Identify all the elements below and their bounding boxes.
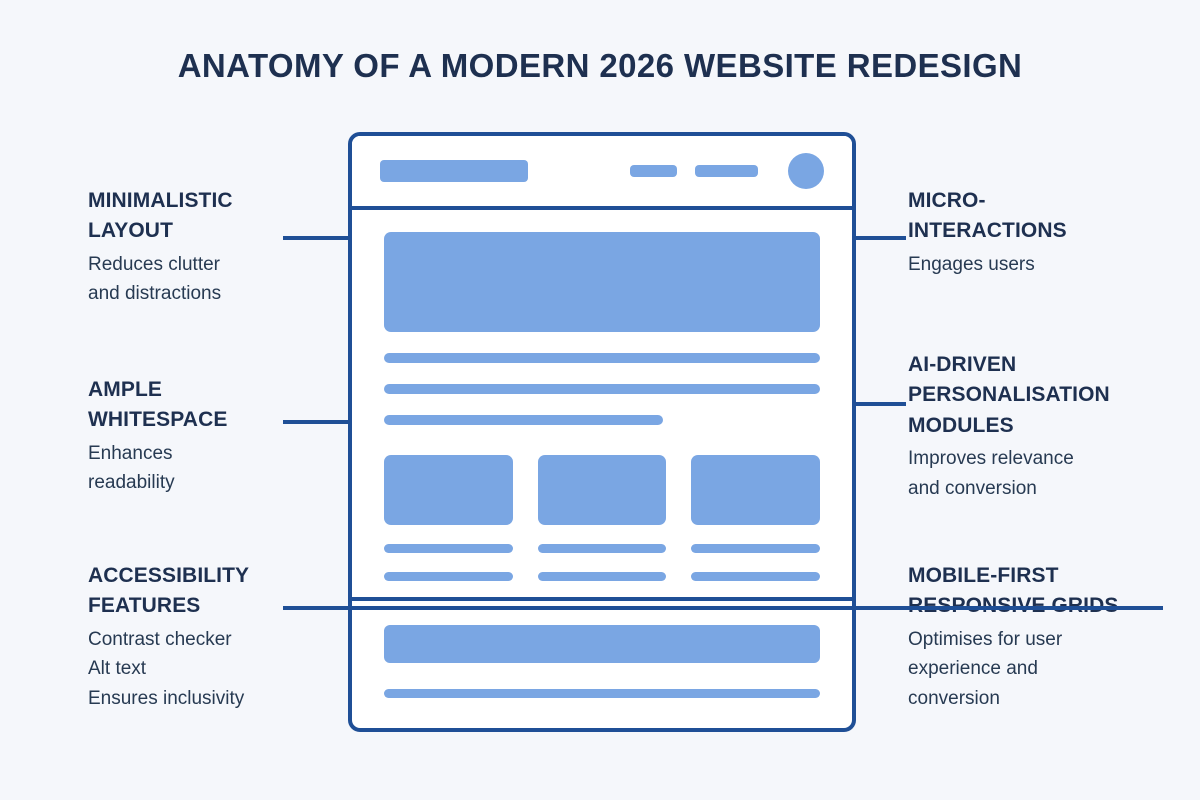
callout-heading: MINIMALISTIC LAYOUT <box>88 186 378 247</box>
callout-heading: ACCESSIBILITY FEATURES <box>88 561 378 622</box>
card-text-line-2 <box>538 572 667 581</box>
callout-minimalistic-layout: MINIMALISTIC LAYOUT Reduces clutter and … <box>88 186 378 309</box>
card-image-placeholder <box>691 455 820 525</box>
card-item[interactable] <box>384 455 513 581</box>
card-text-line-2 <box>384 572 513 581</box>
callout-body: Improves relevance and conversion <box>908 444 1200 503</box>
card-image-placeholder <box>538 455 667 525</box>
callout-heading: AI-DRIVEN PERSONALISATION MODULES <box>908 350 1200 441</box>
callout-body: Optimises for user experience and conver… <box>908 625 1200 713</box>
callout-micro-interactions: MICRO- INTERACTIONS Engages users <box>908 186 1200 279</box>
card-image-placeholder <box>384 455 513 525</box>
callout-body: Reduces clutter and distractions <box>88 250 378 309</box>
card-item[interactable] <box>538 455 667 581</box>
callout-ai-personalisation-modules: AI-DRIVEN PERSONALISATION MODULES Improv… <box>908 350 1200 503</box>
page-title: ANATOMY OF A MODERN 2026 WEBSITE REDESIG… <box>0 48 1200 84</box>
connector-line-accessibility-mobile-first <box>283 606 1163 610</box>
footer-text-line <box>384 689 820 698</box>
callout-mobile-first-responsive-grids: MOBILE-FIRST RESPONSIVE GRIDS Optimises … <box>908 561 1200 713</box>
avatar-icon[interactable] <box>788 153 824 189</box>
mockup-footer-area <box>352 597 852 698</box>
card-grid <box>384 455 820 581</box>
callout-heading: AMPLE WHITESPACE <box>88 375 378 436</box>
callout-body-ample: Enhances readability <box>88 439 378 498</box>
footer-block-placeholder <box>384 625 820 663</box>
card-text-line-1 <box>384 544 513 553</box>
callout-accessibility-features: ACCESSIBILITY FEATURES Contrast checker … <box>88 561 378 713</box>
mockup-content-area <box>352 210 852 581</box>
card-item[interactable] <box>691 455 820 581</box>
website-wireframe-mockup <box>348 132 856 732</box>
hero-image-placeholder <box>384 232 820 332</box>
callout-ample-whitespace: AMPLE WHITESPACE Enhances readability <box>88 375 378 498</box>
logo-placeholder-icon <box>380 160 528 182</box>
paragraph-line-2 <box>384 384 820 394</box>
callout-body: Contrast checker Alt text Ensures inclus… <box>88 625 378 713</box>
card-text-line-1 <box>691 544 820 553</box>
card-text-line-2 <box>691 572 820 581</box>
paragraph-line-3 <box>384 415 663 425</box>
nav-item-placeholder-1[interactable] <box>630 165 677 177</box>
paragraph-line-1 <box>384 353 820 363</box>
card-text-line-1 <box>538 544 667 553</box>
callout-body: Engages users <box>908 250 1200 279</box>
callout-heading: MICRO- INTERACTIONS <box>908 186 1200 247</box>
callout-heading: MOBILE-FIRST RESPONSIVE GRIDS <box>908 561 1200 622</box>
nav-item-placeholder-2[interactable] <box>695 165 758 177</box>
mockup-header-bar <box>352 136 852 210</box>
